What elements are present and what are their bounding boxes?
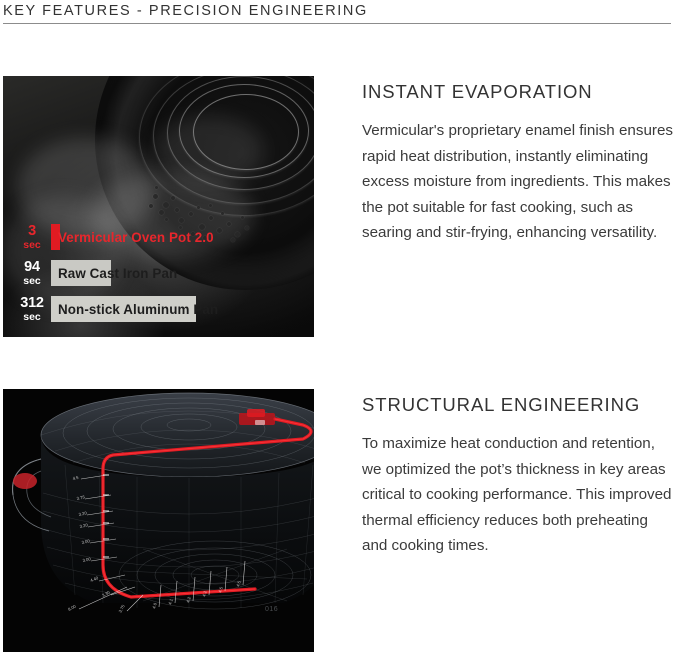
bar-chart-row: 312secNon-stick Aluminum Pan (13, 294, 201, 324)
bar-category-label: Non-stick Aluminum Pan (58, 296, 218, 322)
copy-structural-engineering: STRUCTURAL ENGINEERING To maximize heat … (362, 389, 674, 559)
bar-track: Non-stick Aluminum Pan (51, 296, 201, 322)
cad-brand-mark: 016 (265, 606, 278, 613)
steam-plume (153, 116, 263, 186)
feature-body: Vermicular's proprietary enamel finish e… (362, 104, 674, 246)
food-speckle (171, 196, 175, 200)
bar-category-label: Raw Cast Iron Pan (58, 260, 177, 286)
food-speckle (155, 186, 158, 189)
bar-value-unit: sec (13, 276, 51, 287)
bar-value-unit: sec (13, 240, 51, 251)
cad-wireframe-svg: 4.5 3.75 3.20 3.20 3.00 3.00 4.40 3.30 8… (3, 389, 314, 652)
bar-value-number: 94 (13, 260, 51, 275)
food-speckle (189, 212, 193, 216)
bar-category-label: Vermicular Oven Pot 2.0 (58, 224, 214, 250)
svg-text:8.00: 8.00 (67, 603, 77, 612)
copy-instant-evaporation: INSTANT EVAPORATION Vermicular's proprie… (362, 76, 674, 246)
bar-track: Raw Cast Iron Pan (51, 260, 201, 286)
cad-wireframe-pot-diagram: 4.5 3.75 3.20 3.20 3.00 3.00 4.40 3.30 8… (3, 389, 314, 652)
feature-heading: STRUCTURAL ENGINEERING (362, 389, 674, 417)
feature-row-instant-evaporation: 3secVermicular Oven Pot 2.094secRaw Cast… (0, 76, 679, 338)
bar-value-label: 3sec (13, 224, 51, 250)
food-speckle (153, 194, 158, 199)
pot-lid-surface (41, 393, 314, 477)
bar-track: Vermicular Oven Pot 2.0 (51, 224, 201, 250)
feature-body: To maximize heat conduction and retentio… (362, 417, 674, 559)
bar-value-number: 3 (13, 224, 51, 239)
bar-chart-row: 94secRaw Cast Iron Pan (13, 258, 201, 288)
bar-value-label: 312sec (13, 296, 51, 322)
page-header: KEY FEATURES - PRECISION ENGINEERING (3, 0, 671, 24)
food-speckle (159, 210, 164, 215)
handle-red-accent (13, 473, 37, 489)
bar-value-label: 94sec (13, 260, 51, 286)
food-speckle (209, 204, 212, 207)
feature-heading: INSTANT EVAPORATION (362, 76, 674, 104)
media-steaming-pot-photo: 3secVermicular Oven Pot 2.094secRaw Cast… (3, 76, 314, 337)
food-speckle (163, 202, 169, 208)
media-cad-wireframe-pot-diagram: 4.5 3.75 3.20 3.20 3.00 3.00 4.40 3.30 8… (3, 389, 314, 652)
food-speckle (221, 212, 224, 215)
food-speckle (149, 204, 153, 208)
food-speckle (197, 206, 200, 209)
bar-value-number: 312 (13, 296, 51, 311)
page-title: KEY FEATURES - PRECISION ENGINEERING (3, 0, 671, 21)
header-divider (3, 23, 671, 24)
food-speckle (175, 208, 179, 212)
bar-value-unit: sec (13, 312, 51, 323)
svg-text:3.75: 3.75 (117, 603, 126, 613)
bar-chart-row: 3secVermicular Oven Pot 2.0 (13, 222, 201, 252)
feature-row-structural-engineering: 4.5 3.75 3.20 3.20 3.00 3.00 4.40 3.30 8… (0, 389, 679, 652)
evaporation-time-bar-chart: 3secVermicular Oven Pot 2.094secRaw Cast… (3, 218, 314, 336)
